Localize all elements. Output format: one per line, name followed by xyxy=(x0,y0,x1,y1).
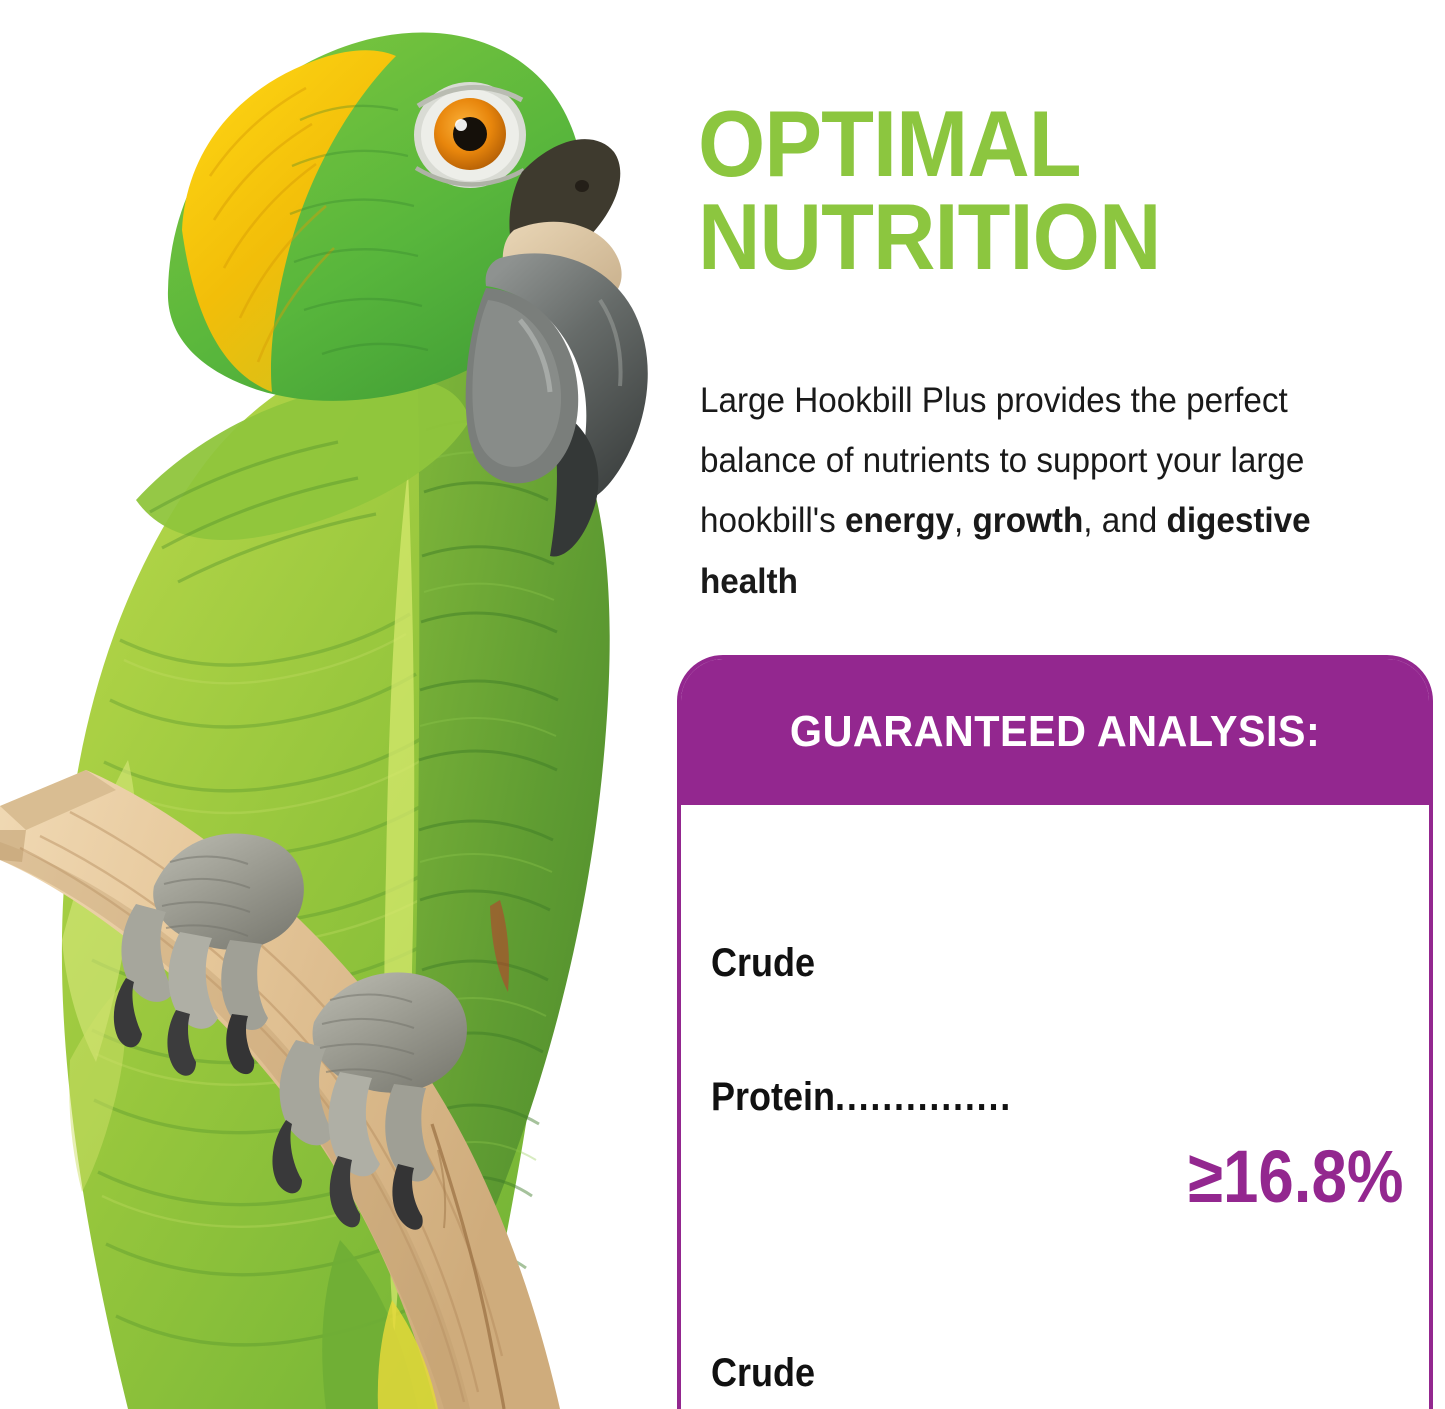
analysis-label-bottom: Protein............... xyxy=(711,1075,1012,1120)
product-description: Large Hookbill Plus provides the perfect… xyxy=(700,371,1403,612)
page-title: OPTIMAL NUTRITION xyxy=(698,97,1360,283)
headline-line-1: OPTIMAL xyxy=(698,97,1360,190)
description-part-2: , xyxy=(954,501,972,540)
analysis-value-crude-protein: ≥16.8% xyxy=(1188,1141,1403,1214)
description-bold-energy: energy xyxy=(845,501,954,540)
guaranteed-analysis-panel: GUARANTEED ANALYSIS: Crude Protein......… xyxy=(677,655,1433,1409)
parrot-illustration xyxy=(0,0,660,1409)
analysis-label-top: Crude xyxy=(711,1351,1023,1396)
analysis-label-crude-fat: Crude Fat ..................... xyxy=(711,1261,1023,1409)
analysis-row-crude-fat: Crude Fat ..................... ≥17.9% xyxy=(711,1247,1403,1409)
analysis-nutrient-name: Protein xyxy=(711,1075,835,1119)
analysis-dot-leader: ............... xyxy=(835,1075,1012,1119)
parrot-photo xyxy=(0,0,660,1409)
guaranteed-analysis-header: GUARANTEED ANALYSIS: xyxy=(681,659,1429,805)
guaranteed-analysis-body: Crude Protein............... ≥16.8% Crud… xyxy=(681,805,1429,1409)
guaranteed-analysis-title: GUARANTEED ANALYSIS: xyxy=(790,707,1320,757)
description-bold-growth: growth xyxy=(973,501,1084,540)
analysis-label-top: Crude xyxy=(711,941,1012,986)
description-part-3: , and xyxy=(1083,501,1166,540)
parrot-eye xyxy=(414,82,526,188)
headline-line-2: NUTRITION xyxy=(698,190,1360,283)
analysis-row-crude-protein: Crude Protein............... ≥16.8% xyxy=(711,837,1403,1225)
infographic-page: OPTIMAL NUTRITION Large Hookbill Plus pr… xyxy=(0,0,1445,1409)
content-column: OPTIMAL NUTRITION Large Hookbill Plus pr… xyxy=(660,0,1445,1409)
analysis-label-crude-protein: Crude Protein............... xyxy=(711,851,1012,1209)
